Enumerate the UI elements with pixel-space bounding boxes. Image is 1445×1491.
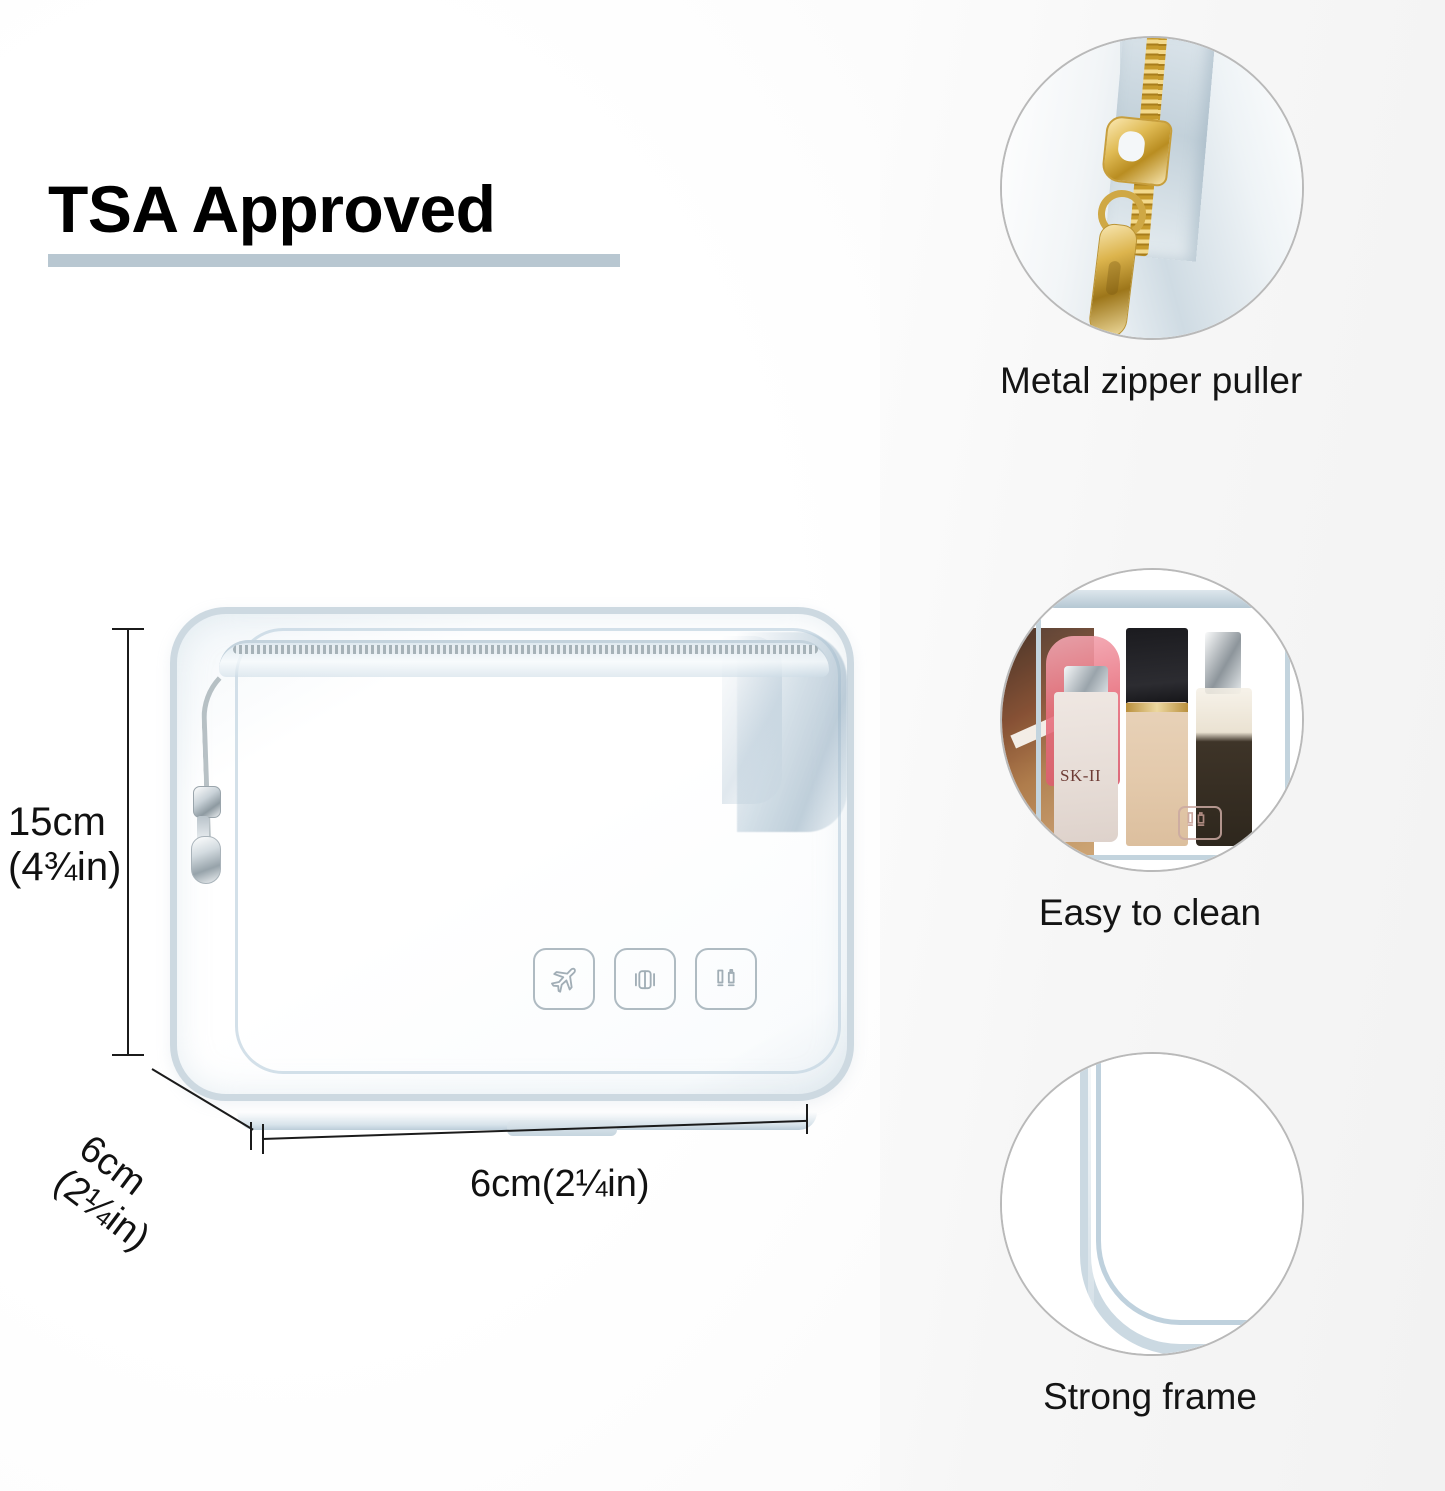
zipper-pull-icon	[189, 786, 223, 882]
brand-label-sk2: SK-II	[1060, 766, 1101, 786]
zipper-slider	[193, 786, 221, 818]
infographic-page: TSA Approved	[0, 0, 1445, 1491]
height-dimension-line	[127, 628, 129, 1056]
width-dimension-cap-right	[806, 1104, 808, 1134]
height-dimension-label: 15cm (4¾in)	[8, 800, 121, 890]
feature-image-cosmetics: SK-II	[1000, 568, 1304, 872]
feature-metal-zipper-puller: Metal zipper puller	[1000, 36, 1330, 402]
liquids-icon-small	[1178, 806, 1222, 840]
cosmetics-bottle1: SK-II	[1054, 692, 1118, 842]
title-underline	[48, 254, 620, 267]
badge-liquids	[695, 948, 757, 1010]
height-dimension-cap-bottom	[112, 1054, 144, 1056]
airplane-icon	[547, 962, 581, 996]
title-block: TSA Approved	[48, 176, 495, 242]
feature-caption-clean: Easy to clean	[1000, 892, 1300, 934]
page-title: TSA Approved	[48, 176, 495, 242]
product-image-main	[150, 565, 860, 1110]
frame-piped-edge-inner	[1096, 1052, 1304, 1325]
badge-luggage	[614, 948, 676, 1010]
cosmetics-bottle2-gold-band	[1126, 703, 1188, 712]
bag-badge-row	[533, 948, 757, 1010]
feature-caption-zipper: Metal zipper puller	[1000, 360, 1300, 402]
badge-airplane	[533, 948, 595, 1010]
width-dimension-label: 6cm(2¼in)	[470, 1163, 650, 1206]
feature-image-frame	[1000, 1052, 1304, 1356]
feature-caption-frame: Strong frame	[1000, 1376, 1300, 1418]
feature-image-zipper	[1000, 36, 1304, 340]
zipper-slider-gold	[1101, 115, 1174, 188]
cosmetics-bottle3-cap	[1205, 632, 1241, 694]
feature-easy-to-clean: SK-II Easy to clean	[1000, 568, 1330, 934]
feature-strong-frame: Strong frame	[1000, 1052, 1330, 1418]
bag-body	[170, 607, 854, 1101]
height-value-cm: 15cm	[8, 800, 121, 845]
zipper-pull-tongue	[191, 836, 221, 884]
luggage-icon	[628, 962, 662, 996]
bag-zipper-teeth	[233, 645, 818, 654]
cosmetics-bottle2-cap	[1126, 628, 1188, 706]
frame-highlight	[1088, 1052, 1094, 1314]
height-value-in: (4¾in)	[8, 845, 121, 890]
cosmetics-bag-zipper	[1046, 590, 1274, 608]
liquids-icon	[709, 962, 743, 996]
depth-dimension-cap	[250, 1122, 252, 1150]
